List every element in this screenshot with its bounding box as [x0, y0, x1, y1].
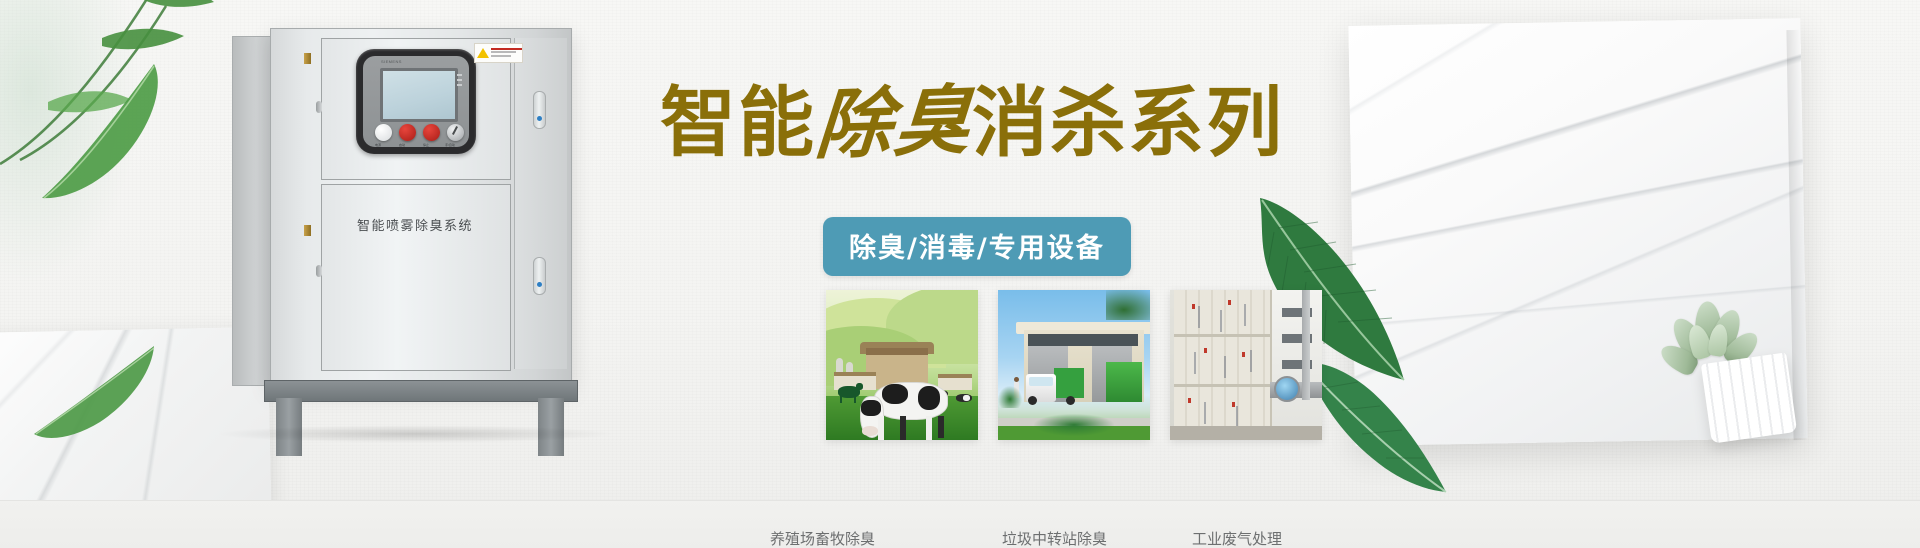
thumbnail-garbage-transfer-station[interactable]	[998, 290, 1150, 440]
cabinet-door-label: 智能喷雾除臭系统	[321, 215, 509, 234]
control-label-power: 电源	[375, 143, 381, 147]
caption-industrial: 工业废气处理	[1192, 528, 1282, 548]
deodorization-tower	[1174, 290, 1272, 440]
bottom-strip	[0, 500, 1920, 548]
hmi-screen[interactable]	[380, 68, 458, 122]
cabinet-side-panel	[232, 36, 275, 386]
headline-segment-1: 智能	[660, 78, 816, 167]
station-clerestory-windows	[1028, 334, 1138, 346]
control-label-stop: 停止	[423, 143, 429, 147]
plant-pot	[1701, 352, 1797, 443]
cabinet-floor-shadow	[215, 425, 615, 443]
station-tree-canopy	[1106, 290, 1150, 320]
plant-ground	[1170, 426, 1322, 440]
exhaust-stack	[1302, 290, 1310, 400]
status-badge: 除臭/消毒/专用设备	[823, 217, 1131, 276]
cabinet-right-panel	[514, 38, 567, 369]
station-green-compactor	[1106, 362, 1142, 402]
thumbnail-deodorization-tower[interactable]	[1170, 290, 1322, 440]
station-hedge	[1034, 414, 1114, 436]
mode-selector-switch[interactable]	[447, 124, 464, 141]
cabinet-body: SIEMENS 电源 启动 停止 手/自动	[270, 28, 572, 386]
cabinet-lock-upper[interactable]	[316, 101, 322, 113]
headline-segment-2: 除臭	[813, 75, 976, 170]
caption-transfer-station: 垃圾中转站除臭	[1002, 528, 1107, 548]
palm-leaf-bottom-left	[30, 338, 170, 448]
start-button[interactable]	[399, 124, 416, 141]
hmi-faceplate: SIEMENS 电源 启动 停止 手/自动	[363, 56, 469, 147]
hmi-status-leds	[457, 74, 462, 89]
warning-triangle-icon	[477, 48, 489, 58]
cabinet-lock-lower[interactable]	[316, 265, 322, 277]
exhaust-fan	[1274, 376, 1300, 402]
control-label-mode: 手/自动	[445, 143, 455, 147]
farm-shed-2	[938, 374, 972, 390]
cabinet-lower-door	[321, 184, 511, 371]
caption-farm: 养殖场畜牧除臭	[770, 528, 875, 548]
door-handle-lower[interactable]	[533, 257, 546, 295]
cabinet-hinge-top	[304, 53, 311, 64]
control-cabinet: SIEMENS 电源 启动 停止 手/自动	[232, 28, 577, 433]
warning-label	[474, 43, 523, 63]
station-collection-truck	[1026, 368, 1084, 402]
promo-banner: SIEMENS 电源 启动 停止 手/自动	[0, 0, 1920, 548]
stop-button[interactable]	[423, 124, 440, 141]
power-indicator-lamp[interactable]	[375, 124, 392, 141]
succulent-plant-pot	[1664, 296, 1814, 446]
station-shrub-left	[998, 386, 1022, 408]
hmi-bezel: SIEMENS 电源 启动 停止 手/自动	[356, 49, 476, 154]
cabinet-hinge-bottom	[304, 225, 311, 236]
palm-leaf-left-mid	[36, 48, 216, 218]
hmi-brand-label: SIEMENS	[381, 59, 402, 64]
thumbnail-gallery	[826, 290, 1346, 440]
page-title: 智能除臭消杀系列	[660, 78, 1320, 168]
thumbnail-farm-livestock[interactable]	[826, 290, 978, 440]
cabinet-base	[264, 380, 578, 402]
hmi-control-row: 电源 启动 停止 手/自动	[375, 124, 461, 146]
truck-body	[1054, 368, 1084, 398]
warning-text-lines	[491, 48, 522, 59]
door-handle-upper[interactable]	[533, 91, 546, 129]
control-label-start: 启动	[399, 143, 405, 147]
bottom-strip-divider	[0, 500, 1920, 501]
headline-segment-3: 消杀系列	[972, 78, 1284, 167]
